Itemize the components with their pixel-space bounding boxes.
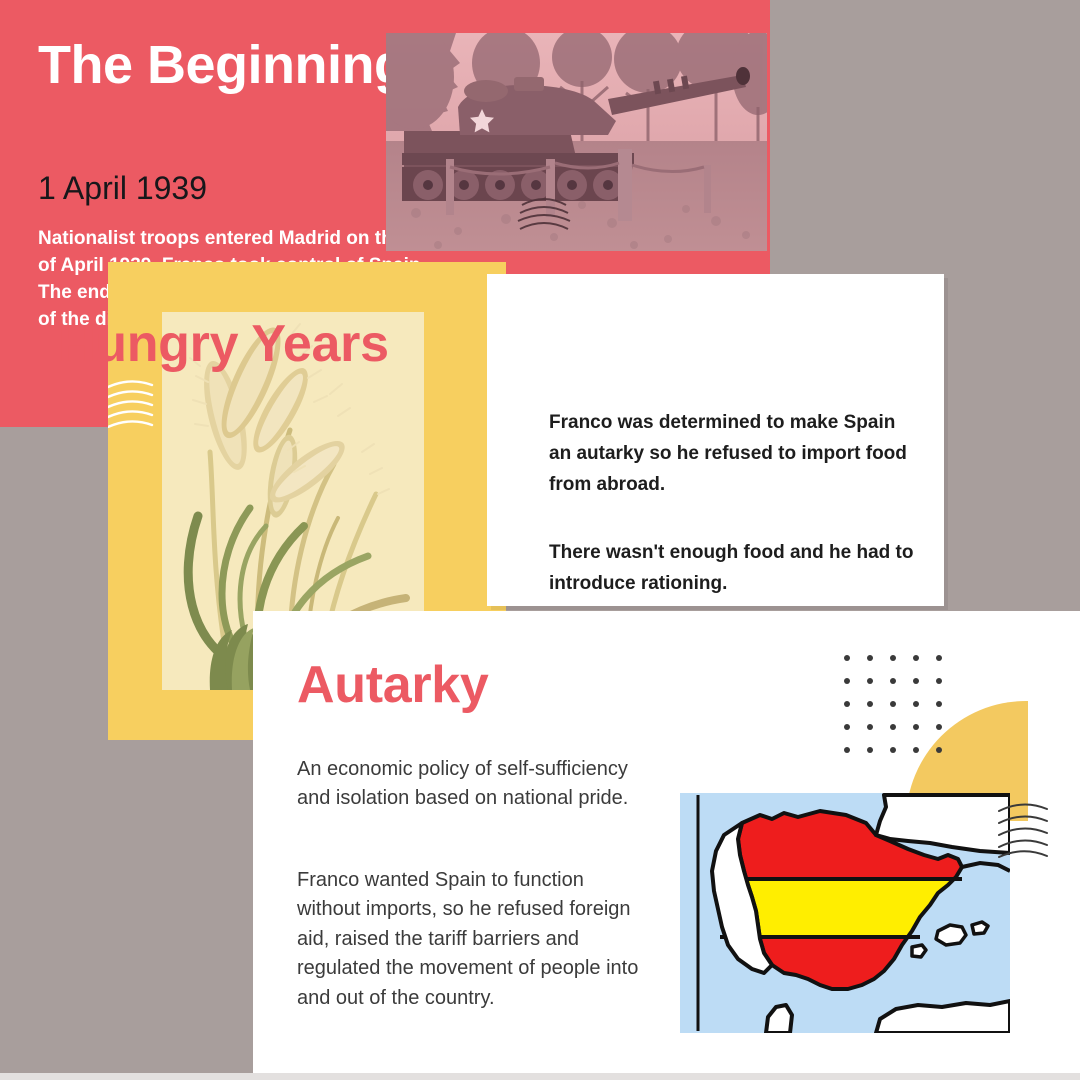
tank-photograph	[386, 33, 767, 251]
wave-lines-icon	[997, 801, 1051, 859]
tank-photograph-image	[386, 33, 767, 251]
dot-grid-icon	[843, 654, 947, 758]
autarky-slide[interactable]: Autarky An economic policy of self-suffi…	[253, 611, 1080, 1080]
autarky-title: Autarky	[297, 655, 489, 715]
the-beginning-title: The Beginning	[38, 34, 406, 96]
the-beginning-date: 1 April 1939	[38, 170, 207, 207]
spain-flag-map-image	[680, 793, 1010, 1033]
hungry-years-title: Hungry Years	[58, 314, 389, 374]
autarky-paragraph-2: Franco wanted Spain to function without …	[297, 866, 647, 1013]
hungry-years-paragraph-2: There wasn't enough food and he had to i…	[549, 538, 929, 600]
slide-collage-canvas: The Beginning 1 April 1939 Nationalist t…	[0, 0, 1080, 1080]
spain-flag-map	[680, 793, 1010, 1033]
autarky-paragraph-1: An economic policy of self-sufficiency a…	[297, 755, 647, 814]
hungry-years-paragraph-1: Franco was determined to make Spain an a…	[549, 408, 909, 500]
white-wave-lines-icon	[108, 378, 154, 428]
page-bottom-edge	[0, 1073, 1080, 1080]
hungry-years-slide[interactable]: Franco was determined to make Spain an a…	[487, 274, 944, 606]
